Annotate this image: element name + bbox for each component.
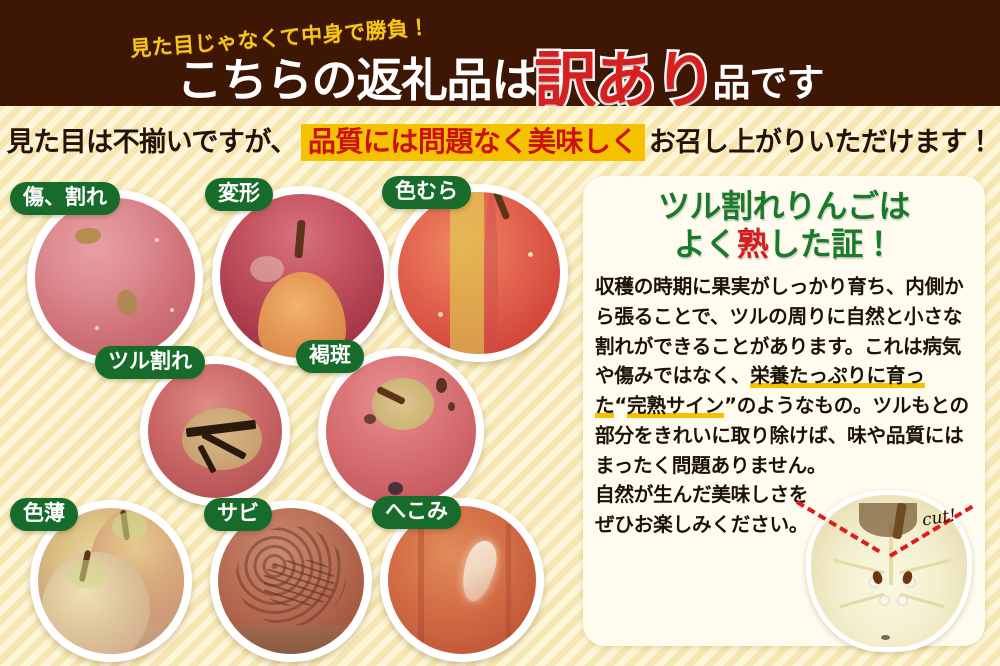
apple-skin-stem-crack xyxy=(148,364,282,498)
apple-photo-uneven-color xyxy=(390,184,568,362)
badge-uneven-color: 色むら xyxy=(382,176,471,209)
promo-banner: 見た目じゃなくて中身で勝負！ こちらの返礼品は訳あり品です 見た目は不揃いですが… xyxy=(0,0,1000,666)
subtitle-highlight: 品質には問題なく美味しく xyxy=(301,124,645,161)
body-seg-2: “ xyxy=(614,394,627,417)
seed-chamber xyxy=(897,595,908,606)
panel-heading-line2-c: した証！ xyxy=(768,225,894,263)
apple-skin-uneven-color xyxy=(398,192,560,354)
badge-deformed: 変形 xyxy=(205,178,273,211)
badge-brown-spot: 褐斑 xyxy=(296,340,364,373)
subtitle-lead: 見た目は不揃いですが、 xyxy=(7,129,297,156)
body-seg-4: 自然が生んだ美味しさを xyxy=(595,483,808,506)
seed-chamber xyxy=(879,595,890,606)
apple-skin-brown-spot xyxy=(326,356,476,506)
header-band: 見た目じゃなくて中身で勝負！ こちらの返礼品は訳あり品です xyxy=(0,0,1000,106)
core-line xyxy=(839,593,884,609)
badge-russet: サビ xyxy=(204,498,272,531)
apple-stem xyxy=(892,503,907,540)
badge-bruise-crack: 傷、割れ xyxy=(10,182,120,215)
apple-photo-bruise-crack xyxy=(27,190,203,366)
flesh-speck xyxy=(831,627,837,633)
panel-heading: ツル割れりんごは よく熟した証！ xyxy=(583,188,985,264)
panel-heading-line2-accent: 熟 xyxy=(737,225,769,263)
badge-stem-crack: ツル割れ xyxy=(95,346,205,379)
body-seg-5: ぜひお楽しみください。 xyxy=(595,513,808,536)
flesh-speck xyxy=(881,635,890,640)
header-title-accent: 訳あり xyxy=(534,50,714,106)
header-title-part1: こちらの返礼品は xyxy=(176,57,536,103)
apple-photo-deformed xyxy=(212,186,392,366)
badge-pale-color: 色薄 xyxy=(10,498,78,531)
subtitle-tail: お召し上がりいただけます！ xyxy=(649,129,994,156)
cut-apple-illustration: cut! xyxy=(802,486,978,658)
subtitle-line: 見た目は不揃いですが、品質には問題なく美味しくお召し上がりいただけます！ xyxy=(0,124,1000,161)
panel-heading-line2: よく熟した証！ xyxy=(583,226,985,264)
stem-cavity-shadow xyxy=(859,503,917,537)
apple-skin-deformed xyxy=(220,194,384,358)
body-highlight-ripe-sign: 完熟サイン xyxy=(627,394,724,418)
apple-skin-bruise-crack xyxy=(35,198,195,358)
panel-heading-line1: ツル割れりんごは xyxy=(583,188,985,226)
panel-heading-line2-a: よく xyxy=(674,225,737,263)
badge-dent: へこみ xyxy=(372,496,461,529)
header-title-part2: 品です xyxy=(713,64,824,102)
header-main-title: こちらの返礼品は訳あり品です xyxy=(0,44,1000,106)
